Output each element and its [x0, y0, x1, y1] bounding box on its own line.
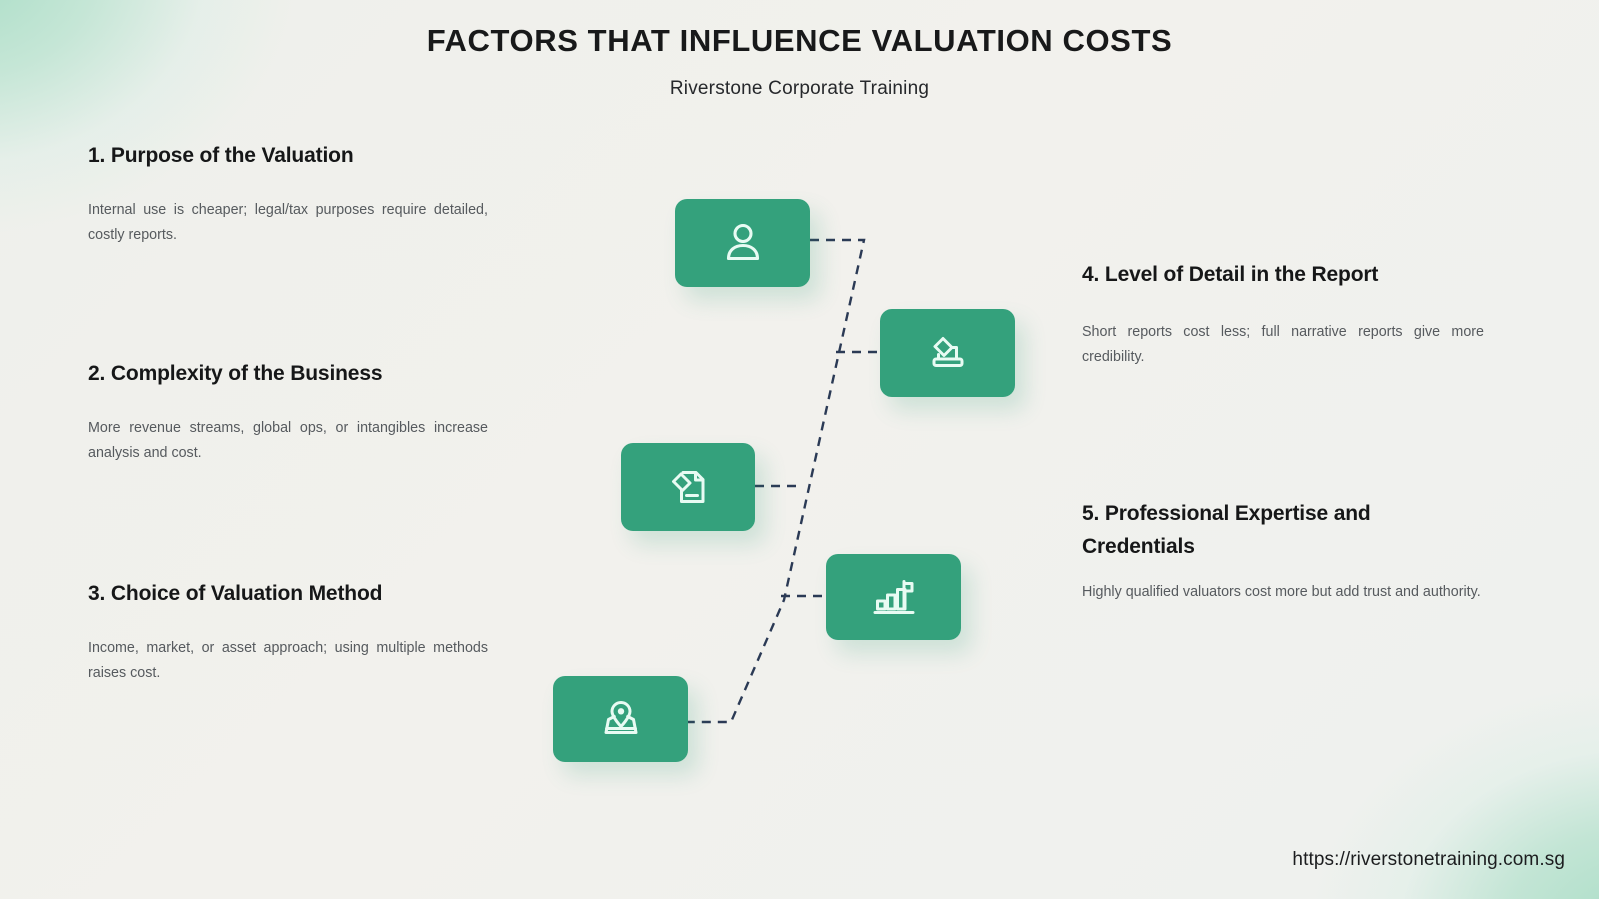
factor-1-heading: 1. Purpose of the Valuation — [88, 139, 488, 172]
tile-stamp[interactable] — [880, 309, 1015, 397]
location-pin-icon — [595, 693, 647, 745]
factor-1: 1. Purpose of the Valuation Internal use… — [88, 139, 488, 247]
factor-4: 4. Level of Detail in the Report Short r… — [1082, 258, 1484, 369]
factor-3-heading: 3. Choice of Valuation Method — [88, 577, 488, 610]
factor-2-body: More revenue streams, global ops, or int… — [88, 416, 488, 465]
factor-4-body: Short reports cost less; full narrative … — [1082, 320, 1484, 369]
header: FACTORS THAT INFLUENCE VALUATION COSTS R… — [0, 0, 1599, 100]
factor-5: 5. Professional Expertise and Credential… — [1082, 497, 1484, 605]
site-url: https://riverstonetraining.com.sg — [1292, 849, 1565, 871]
factor-1-body: Internal use is cheaper; legal/tax purpo… — [88, 198, 488, 247]
page-subtitle: Riverstone Corporate Training — [0, 78, 1599, 100]
factor-2: 2. Complexity of the Business More reven… — [88, 357, 488, 465]
factor-5-body: Highly qualified valuators cost more but… — [1082, 580, 1484, 605]
user-icon — [717, 217, 769, 269]
factor-3-body: Income, market, or asset approach; using… — [88, 636, 488, 685]
tile-document-pen[interactable] — [621, 443, 755, 531]
factor-4-heading: 4. Level of Detail in the Report — [1082, 258, 1484, 291]
document-pen-icon — [662, 461, 714, 513]
tile-location-pin[interactable] — [553, 676, 688, 762]
factor-5-heading: 5. Professional Expertise and Credential… — [1082, 497, 1484, 563]
tile-user[interactable] — [675, 199, 810, 287]
factor-2-heading: 2. Complexity of the Business — [88, 357, 488, 390]
factor-3: 3. Choice of Valuation Method Income, ma… — [88, 577, 488, 685]
tile-growth-chart[interactable] — [826, 554, 961, 640]
stamp-icon — [922, 327, 974, 379]
growth-chart-flag-icon — [868, 571, 920, 623]
page-title: FACTORS THAT INFLUENCE VALUATION COSTS — [0, 23, 1599, 59]
